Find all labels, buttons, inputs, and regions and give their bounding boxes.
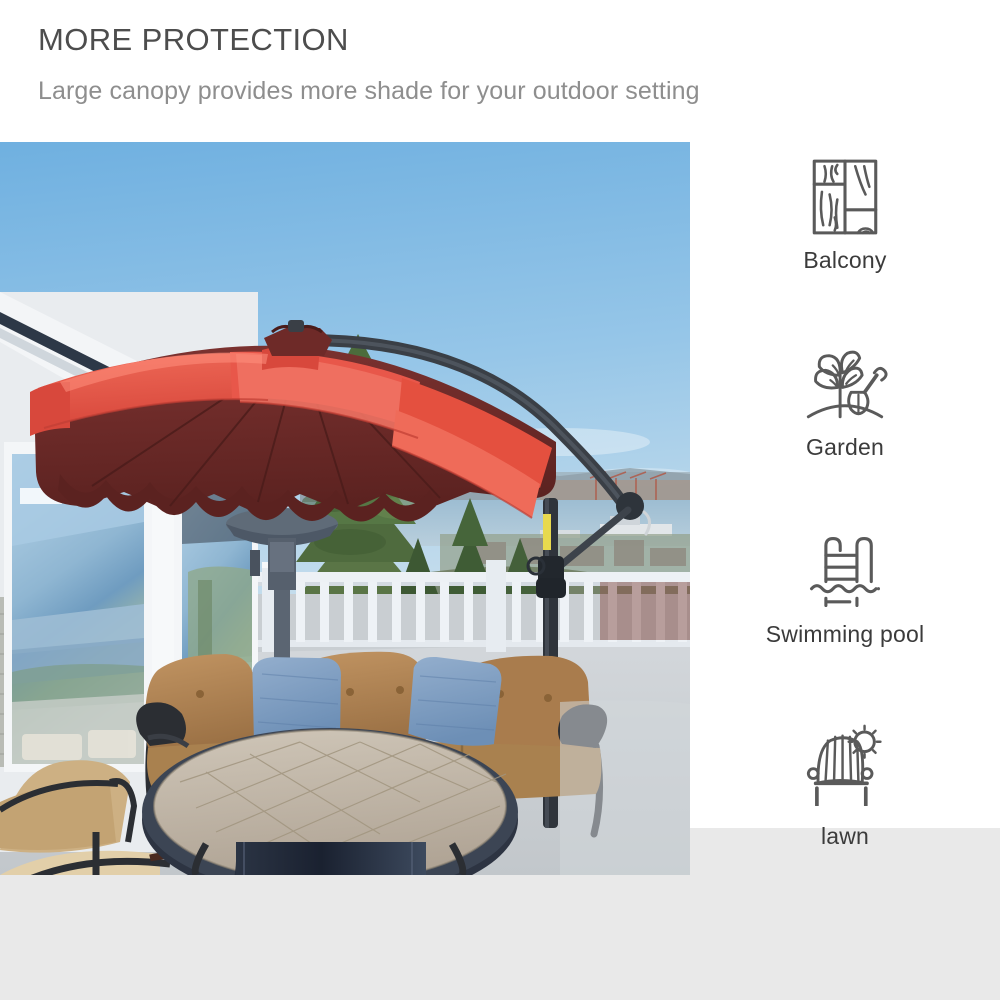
feature-item-balcony[interactable]: Balcony bbox=[690, 156, 1000, 273]
feature-item-swimming-pool[interactable]: Swimming pool bbox=[690, 532, 1000, 647]
page-title: MORE PROTECTION bbox=[38, 24, 349, 55]
adirondack-chair-sun-icon bbox=[801, 724, 889, 806]
feature-list: Balcony Garden Swimming pool bbox=[690, 142, 1000, 1000]
feature-item-lawn[interactable]: lawn bbox=[690, 724, 1000, 849]
wood-decking-icon bbox=[804, 156, 886, 238]
feature-label-balcony: Balcony bbox=[690, 248, 1000, 273]
patio-cantilever-umbrella-photo bbox=[0, 142, 690, 875]
pool-ladder-icon bbox=[802, 532, 888, 612]
feature-label-swimming-pool: Swimming pool bbox=[690, 622, 1000, 647]
seedling-trowel-icon bbox=[801, 345, 889, 425]
page-subtitle: Large canopy provides more shade for you… bbox=[38, 76, 700, 106]
header-banner: MORE PROTECTION Large canopy provides mo… bbox=[0, 0, 1000, 142]
feature-label-garden: Garden bbox=[690, 435, 1000, 460]
feature-label-lawn: lawn bbox=[690, 824, 1000, 849]
feature-item-garden[interactable]: Garden bbox=[690, 345, 1000, 460]
